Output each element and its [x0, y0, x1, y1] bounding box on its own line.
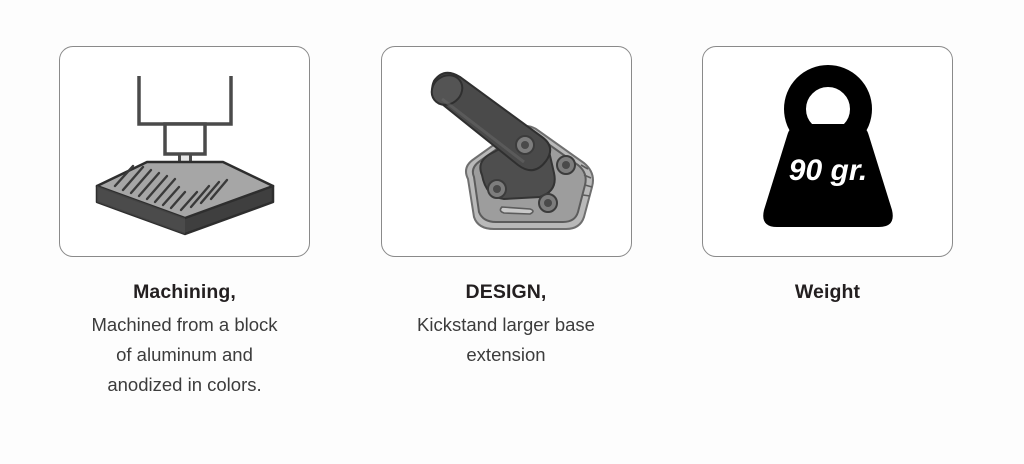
feature-item-weight: 90 gr. Weight	[701, 46, 954, 310]
feature-title: Weight	[697, 279, 959, 305]
kickstand-extension-icon	[398, 57, 614, 247]
feature-body: Machined from a block of aluminum and an…	[54, 310, 316, 400]
feature-caption-design: DESIGN, Kickstand larger base extension	[375, 279, 637, 370]
feature-title: DESIGN,	[375, 279, 637, 305]
feature-caption-weight: Weight	[697, 279, 959, 310]
feature-body-line: Machined from a block	[54, 310, 316, 340]
feature-icon-card-design	[381, 46, 632, 257]
feature-icon-card-machining	[59, 46, 310, 257]
feature-list: Machining, Machined from a block of alum…	[58, 46, 954, 400]
feature-caption-machining: Machining, Machined from a block of alum…	[54, 279, 316, 400]
cnc-machining-icon	[85, 62, 285, 242]
feature-body-line: anodized in colors.	[54, 370, 316, 400]
feature-item-machining: Machining, Machined from a block of alum…	[58, 46, 311, 400]
feature-body-line: Kickstand larger base	[375, 310, 637, 340]
feature-item-design: DESIGN, Kickstand larger base extension	[380, 46, 633, 370]
feature-body-line: of aluminum and	[54, 340, 316, 370]
feature-body-line: extension	[375, 340, 637, 370]
feature-icon-card-weight: 90 gr.	[702, 46, 953, 257]
feature-body: Kickstand larger base extension	[375, 310, 637, 370]
weight-icon: 90 gr.	[738, 62, 918, 242]
weight-value-label: 90 gr.	[788, 154, 866, 187]
feature-highlights-page: Machining, Machined from a block of alum…	[0, 0, 1024, 464]
feature-title: Machining,	[54, 279, 316, 305]
